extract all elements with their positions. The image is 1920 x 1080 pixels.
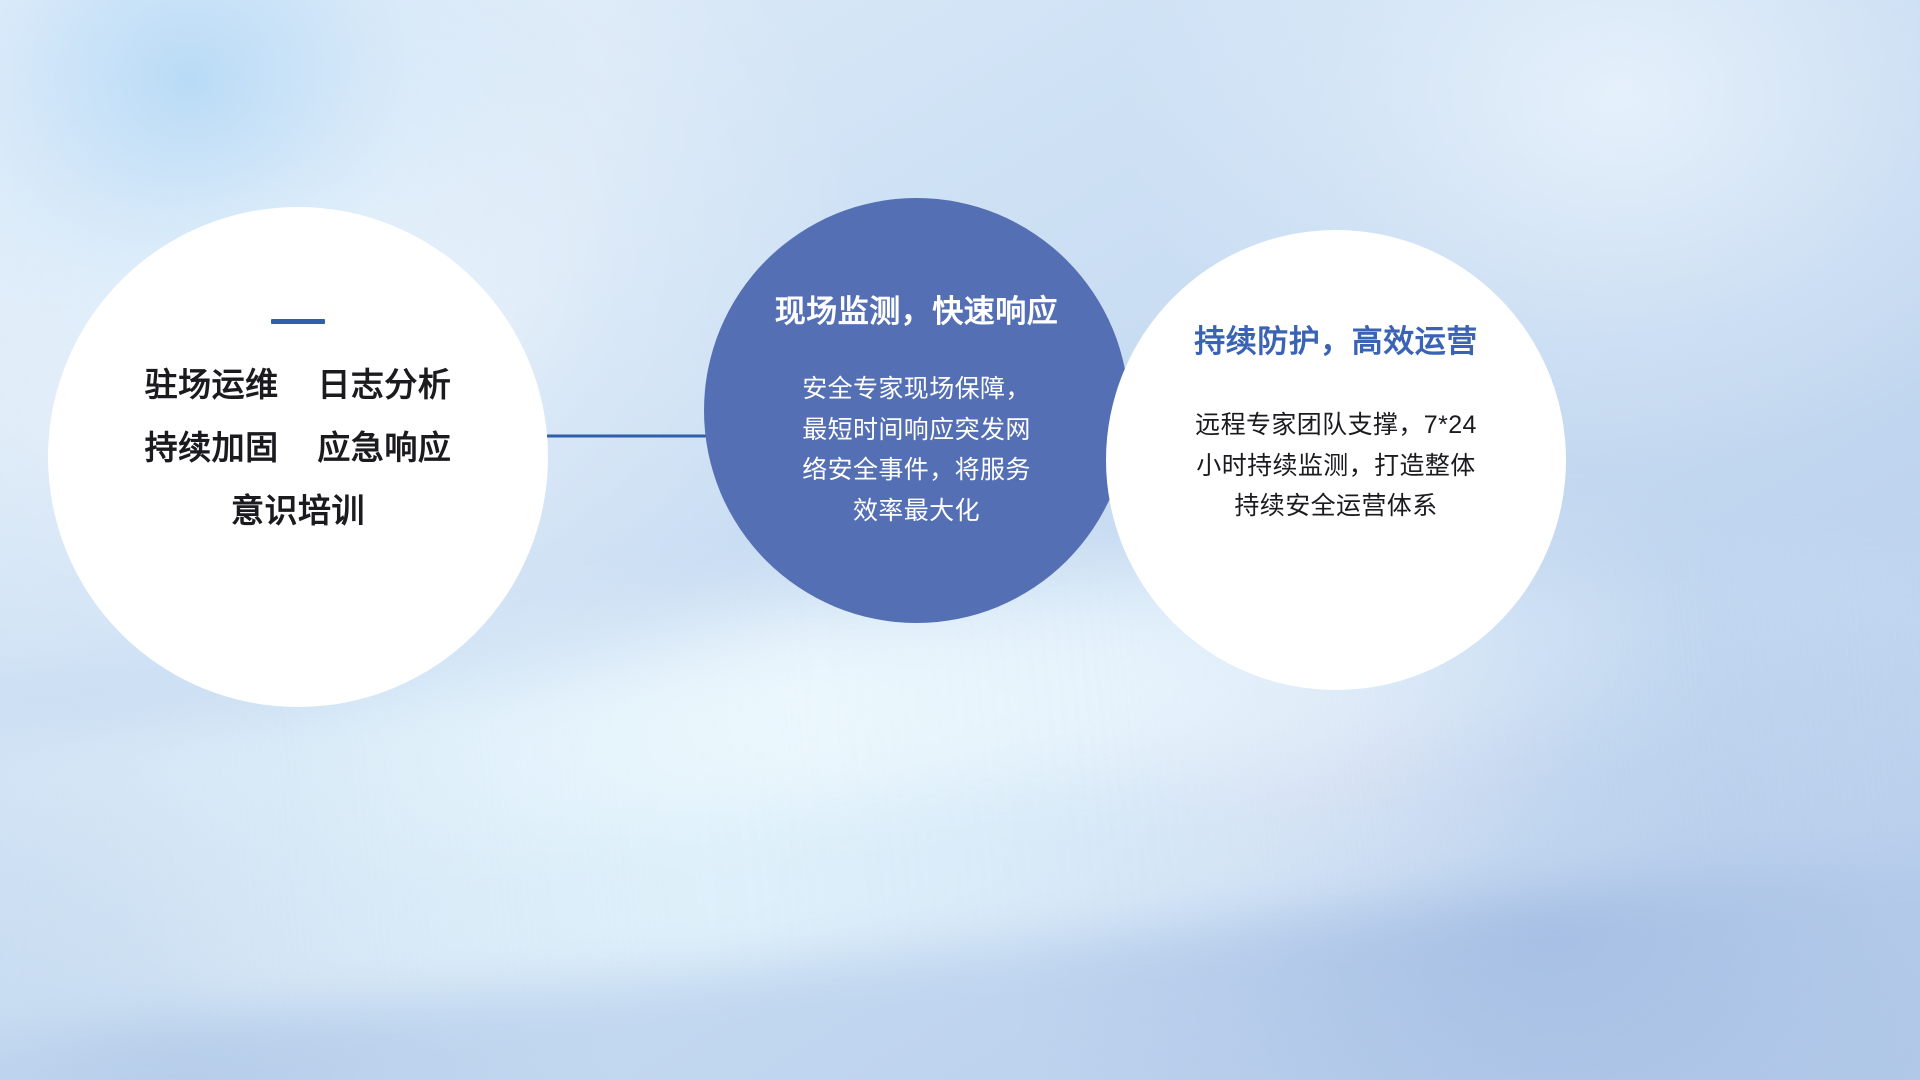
protection-body-line-3: 持续安全运营体系: [1156, 486, 1516, 527]
continuous-protection-title: 持续防护，高效运营: [1134, 316, 1538, 361]
onsite-monitoring-title: 现场监测，快速响应: [738, 286, 1095, 331]
onsite-body-line-3: 络安全事件，将服务: [778, 450, 1056, 491]
onsite-body-line-4: 效率最大化: [778, 491, 1056, 532]
onsite-body-line-2: 最短时间响应突发网: [778, 410, 1056, 451]
capabilities-line-1: 驻场运维 日志分析: [48, 368, 548, 401]
slide-canvas: 驻场运维 日志分析 持续加固 应急响应 意识培训 现场监测，快速响应 安全专家现…: [0, 0, 1920, 1080]
continuous-protection-circle: 持续防护，高效运营 远程专家团队支撑，7*24 小时持续监测，打造整体 持续安全…: [1106, 230, 1566, 690]
onsite-monitoring-circle: 现场监测，快速响应 安全专家现场保障， 最短时间响应突发网 络安全事件，将服务 …: [704, 198, 1129, 623]
protection-body-line-2: 小时持续监测，打造整体: [1156, 446, 1516, 487]
onsite-monitoring-content: 现场监测，快速响应 安全专家现场保障， 最短时间响应突发网 络安全事件，将服务 …: [704, 286, 1129, 531]
capabilities-line-2: 持续加固 应急响应: [48, 431, 548, 464]
protection-body-line-1: 远程专家团队支撑，7*24: [1156, 405, 1516, 446]
capabilities-line-3: 意识培训: [48, 494, 548, 527]
onsite-monitoring-body: 安全专家现场保障， 最短时间响应突发网 络安全事件，将服务 效率最大化: [778, 369, 1056, 531]
capabilities-circle: 驻场运维 日志分析 持续加固 应急响应 意识培训: [48, 207, 548, 707]
continuous-protection-content: 持续防护，高效运营 远程专家团队支撑，7*24 小时持续监测，打造整体 持续安全…: [1106, 316, 1566, 527]
divider-dash: [271, 319, 325, 324]
capabilities-content: 驻场运维 日志分析 持续加固 应急响应 意识培训: [48, 319, 548, 527]
continuous-protection-body: 远程专家团队支撑，7*24 小时持续监测，打造整体 持续安全运营体系: [1156, 405, 1516, 527]
onsite-body-line-1: 安全专家现场保障，: [778, 369, 1056, 410]
